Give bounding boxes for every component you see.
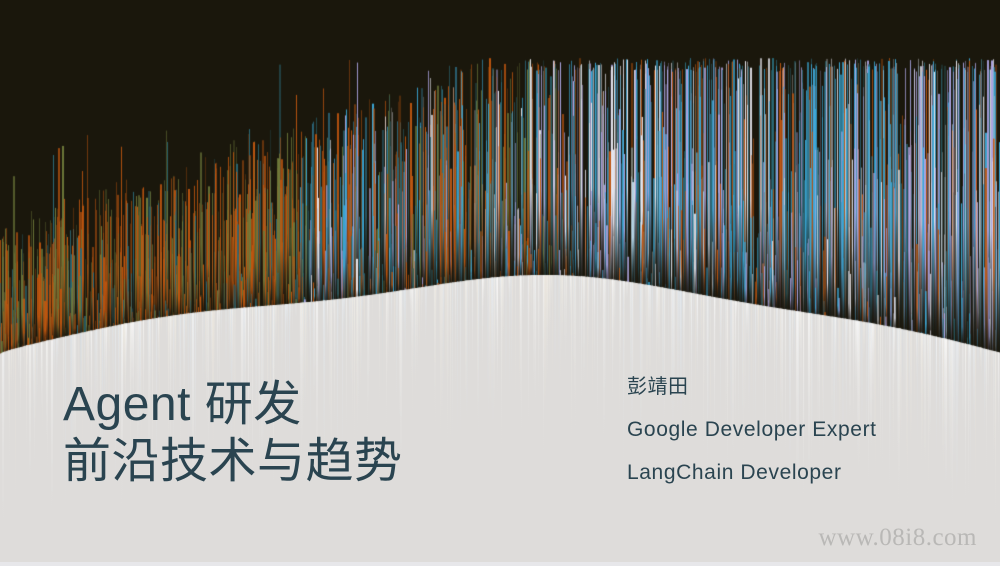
speaker-info: 彭靖田 Google Developer Expert LangChain De… <box>627 374 967 503</box>
speaker-role-2: LangChain Developer <box>627 460 967 486</box>
speaker-name: 彭靖田 <box>627 374 967 400</box>
bottom-edge-strip <box>0 562 1000 566</box>
title-line-2: 前沿技术与趋势 <box>63 433 583 490</box>
title-line-1: Agent 研发 <box>63 376 583 433</box>
speaker-role-1: Google Developer Expert <box>627 417 967 443</box>
page-title: Agent 研发 前沿技术与趋势 <box>63 376 583 490</box>
presentation-slide: Agent 研发 前沿技术与趋势 彭靖田 Google Developer Ex… <box>0 0 1000 566</box>
watermark: www.08i8.com <box>818 524 977 552</box>
